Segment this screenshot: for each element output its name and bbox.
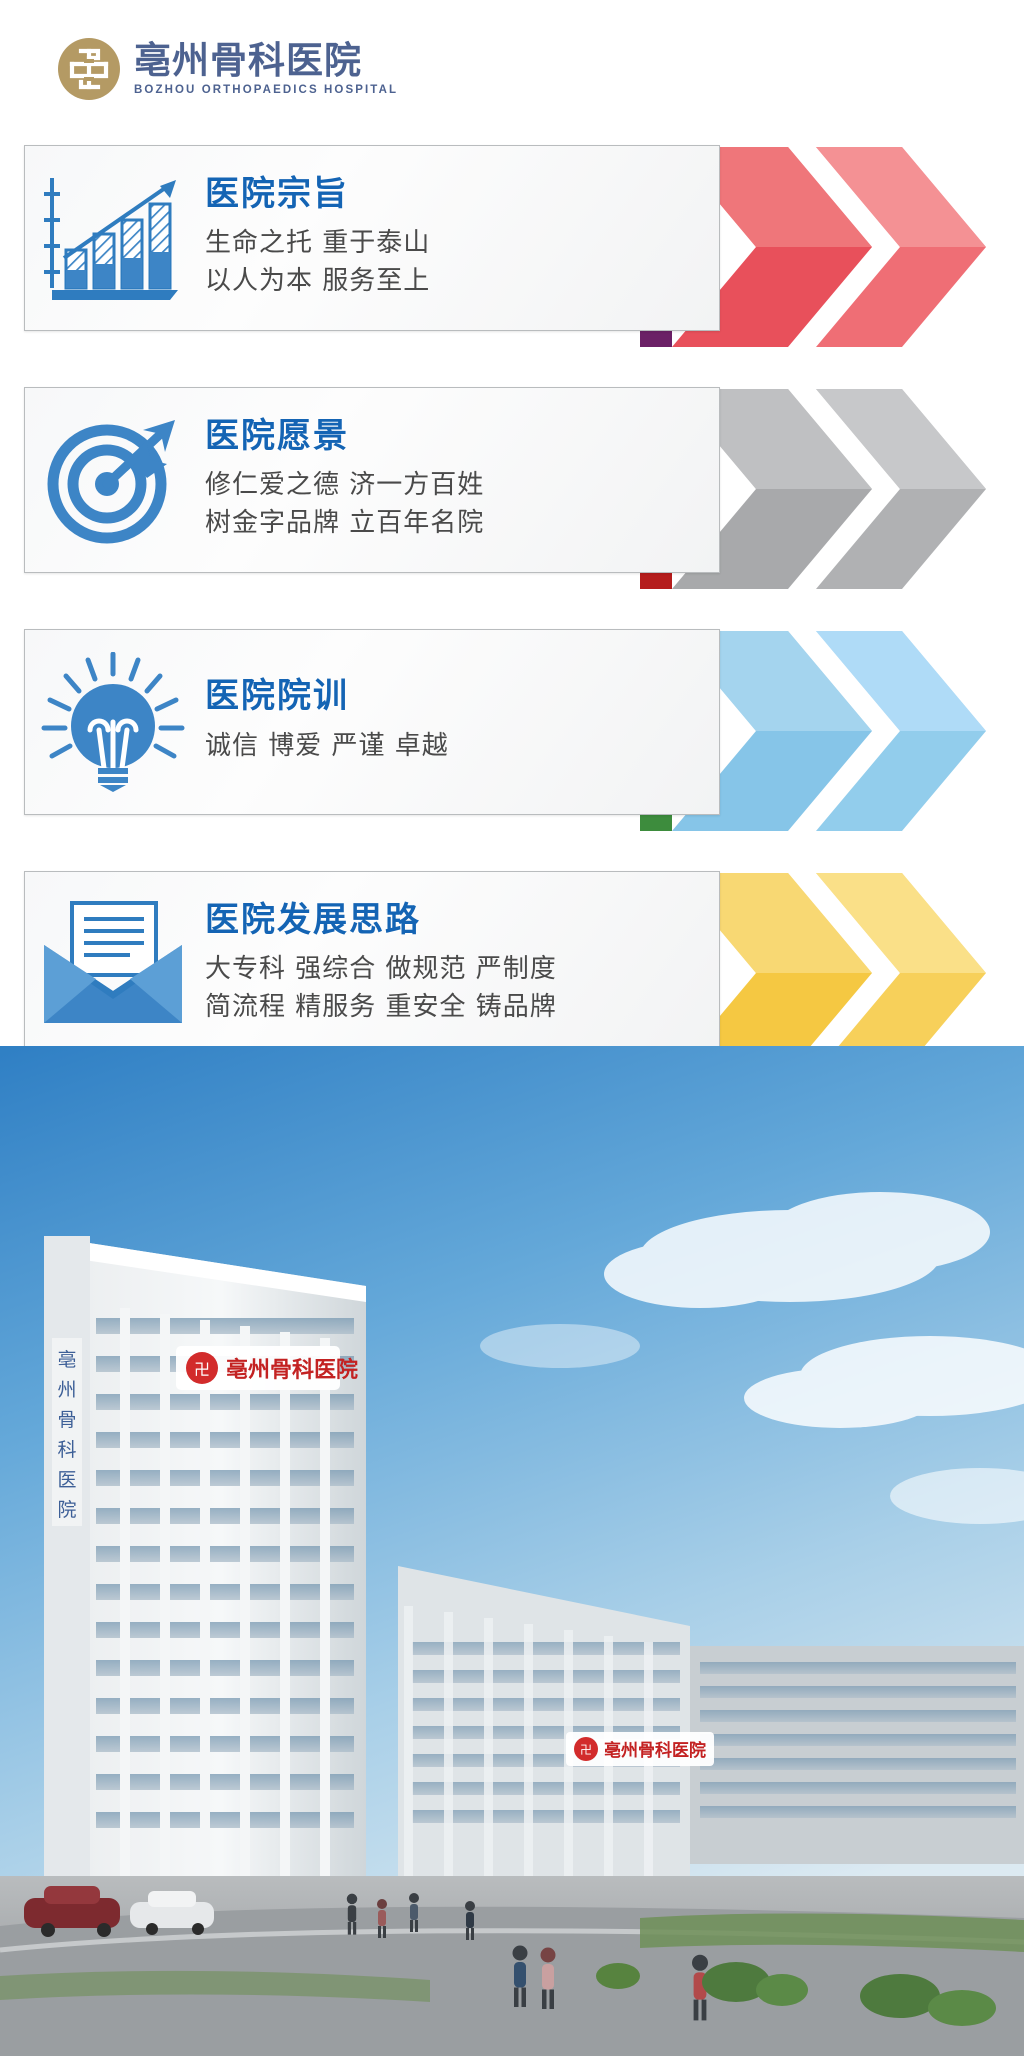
svg-text:卍: 卍 — [194, 1360, 210, 1379]
panel-card: 医院发展思路 大专科 强综合 做规范 严制度 简流程 精服务 重安全 铸品牌 — [24, 871, 720, 1057]
svg-text:亳: 亳 — [57, 1349, 76, 1371]
svg-text:州: 州 — [57, 1379, 76, 1401]
panel-title: 医院宗旨 — [205, 176, 719, 213]
svg-text:骨: 骨 — [57, 1409, 76, 1431]
lightbulb-idea-icon — [25, 652, 201, 792]
panel-text: 医院宗旨 生命之托 重于泰山 以人为本 服务至上 — [201, 176, 719, 301]
panel-line: 诚信 博爱 严谨 卓越 — [205, 728, 719, 766]
svg-text:亳州骨科医院: 亳州骨科医院 — [226, 1357, 358, 1383]
panel-text: 医院愿景 修仁爱之德 济一方百姓 树金字品牌 立百年名院 — [201, 418, 719, 543]
panel-title: 医院愿景 — [205, 418, 719, 455]
value-panel-stack: 医院宗旨 生命之托 重于泰山 以人为本 服务至上 — [0, 133, 1024, 1101]
brand-header: 亳州骨科医院 BOZHOU ORTHOPAEDICS HOSPITAL — [58, 38, 398, 100]
panel-line: 树金字品牌 立百年名院 — [205, 505, 719, 543]
panel-text: 医院院训 诚信 博爱 严谨 卓越 — [201, 678, 719, 765]
svg-text:院: 院 — [57, 1499, 76, 1521]
target-bullseye-icon — [25, 414, 201, 546]
wing-sign: 卍 亳州骨科医院 — [566, 1732, 714, 1766]
bar-chart-growth-icon — [25, 172, 201, 304]
panel-card: 医院院训 诚信 博爱 严谨 卓越 — [24, 629, 720, 815]
panel-row: 医院宗旨 生命之托 重于泰山 以人为本 服务至上 — [0, 133, 1024, 361]
svg-text:卍: 卍 — [580, 1743, 592, 1757]
panel-row: 医院愿景 修仁爱之德 济一方百姓 树金字品牌 立百年名院 — [0, 375, 1024, 603]
bozhou-hospital-emblem-icon — [58, 38, 120, 100]
envelope-mail-icon — [25, 899, 201, 1029]
brand-name-cn: 亳州骨科医院 — [134, 42, 398, 81]
panel-line: 大专科 强综合 做规范 严制度 — [205, 951, 719, 989]
brand-text: 亳州骨科医院 BOZHOU ORTHOPAEDICS HOSPITAL — [134, 42, 398, 97]
panel-line: 修仁爱之德 济一方百姓 — [205, 467, 719, 505]
panel-text: 医院发展思路 大专科 强综合 做规范 严制度 简流程 精服务 重安全 铸品牌 — [201, 902, 719, 1027]
hospital-building-exterior-photo: 亳州 骨科 医院 卍 亳州骨科医院 卍 亳州骨科医院 — [0, 1046, 1024, 2056]
brand-name-en: BOZHOU ORTHOPAEDICS HOSPITAL — [134, 84, 398, 96]
panel-card: 医院宗旨 生命之托 重于泰山 以人为本 服务至上 — [24, 145, 720, 331]
panel-card: 医院愿景 修仁爱之德 济一方百姓 树金字品牌 立百年名院 — [24, 387, 720, 573]
panel-line: 以人为本 服务至上 — [205, 263, 719, 301]
svg-text:亳州骨科医院: 亳州骨科医院 — [604, 1740, 706, 1761]
svg-text:医: 医 — [57, 1469, 76, 1491]
panel-line: 简流程 精服务 重安全 铸品牌 — [205, 989, 719, 1027]
panel-line: 生命之托 重于泰山 — [205, 225, 719, 263]
tower-sign: 卍 亳州骨科医院 — [176, 1346, 358, 1390]
panel-title: 医院发展思路 — [205, 902, 719, 939]
panel-row: 医院院训 诚信 博爱 严谨 卓越 — [0, 617, 1024, 845]
panel-title: 医院院训 — [205, 678, 719, 715]
svg-text:科: 科 — [57, 1439, 76, 1461]
